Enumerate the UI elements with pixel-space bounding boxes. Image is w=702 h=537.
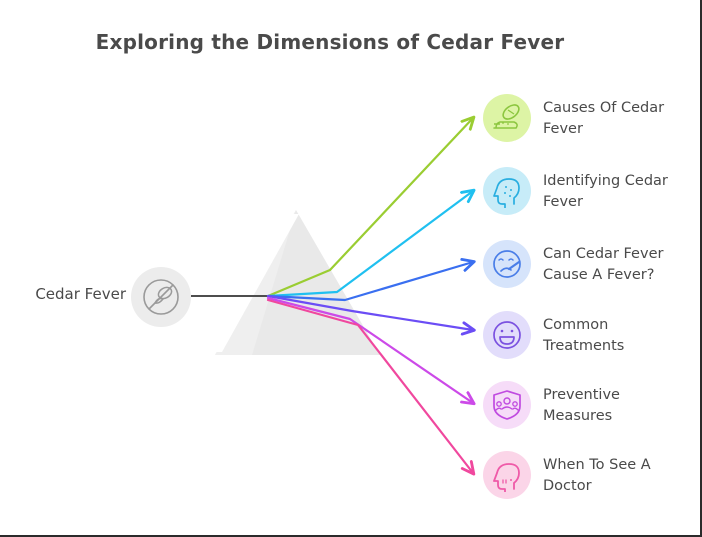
peanut-allergen-icon — [490, 101, 524, 135]
diagram-canvas: Exploring the Dimensions of Cedar Fever — [0, 0, 702, 537]
branch-label-4: Common Treatments — [543, 311, 691, 357]
head-symptoms-icon — [490, 174, 524, 208]
root-node-label: Cedar Fever — [8, 285, 126, 303]
branch-icon-circle-3 — [483, 240, 531, 288]
branch-node-3[interactable]: Can Cedar Fever Cause A Fever? — [483, 240, 691, 288]
branch-label-6: When To See A Doctor — [543, 451, 691, 497]
branch-node-2[interactable]: Identifying Cedar Fever — [483, 167, 691, 215]
sick-face-thermometer-icon — [490, 247, 524, 281]
branch-icon-circle-6 — [483, 451, 531, 499]
branch-label-5: Preventive Measures — [543, 381, 691, 427]
smiley-face-icon — [490, 318, 524, 352]
branch-label-3: Can Cedar Fever Cause A Fever? — [543, 240, 691, 286]
branch-label-2: Identifying Cedar Fever — [543, 167, 691, 213]
branch-label-1: Causes Of Cedar Fever — [543, 94, 691, 140]
branch-icon-circle-1 — [483, 94, 531, 142]
head-profile-icon — [490, 458, 524, 492]
branch-icon-circle-5 — [483, 381, 531, 429]
shield-people-icon — [490, 388, 524, 422]
branch-node-6[interactable]: When To See A Doctor — [483, 451, 691, 499]
branch-icon-circle-2 — [483, 167, 531, 215]
branch-node-5[interactable]: Preventive Measures — [483, 381, 691, 429]
branch-node-4[interactable]: Common Treatments — [483, 311, 691, 359]
no-pollen-icon — [140, 276, 182, 318]
branch-icon-circle-4 — [483, 311, 531, 359]
root-node[interactable] — [131, 267, 191, 327]
branch-node-1[interactable]: Causes Of Cedar Fever — [483, 94, 691, 142]
